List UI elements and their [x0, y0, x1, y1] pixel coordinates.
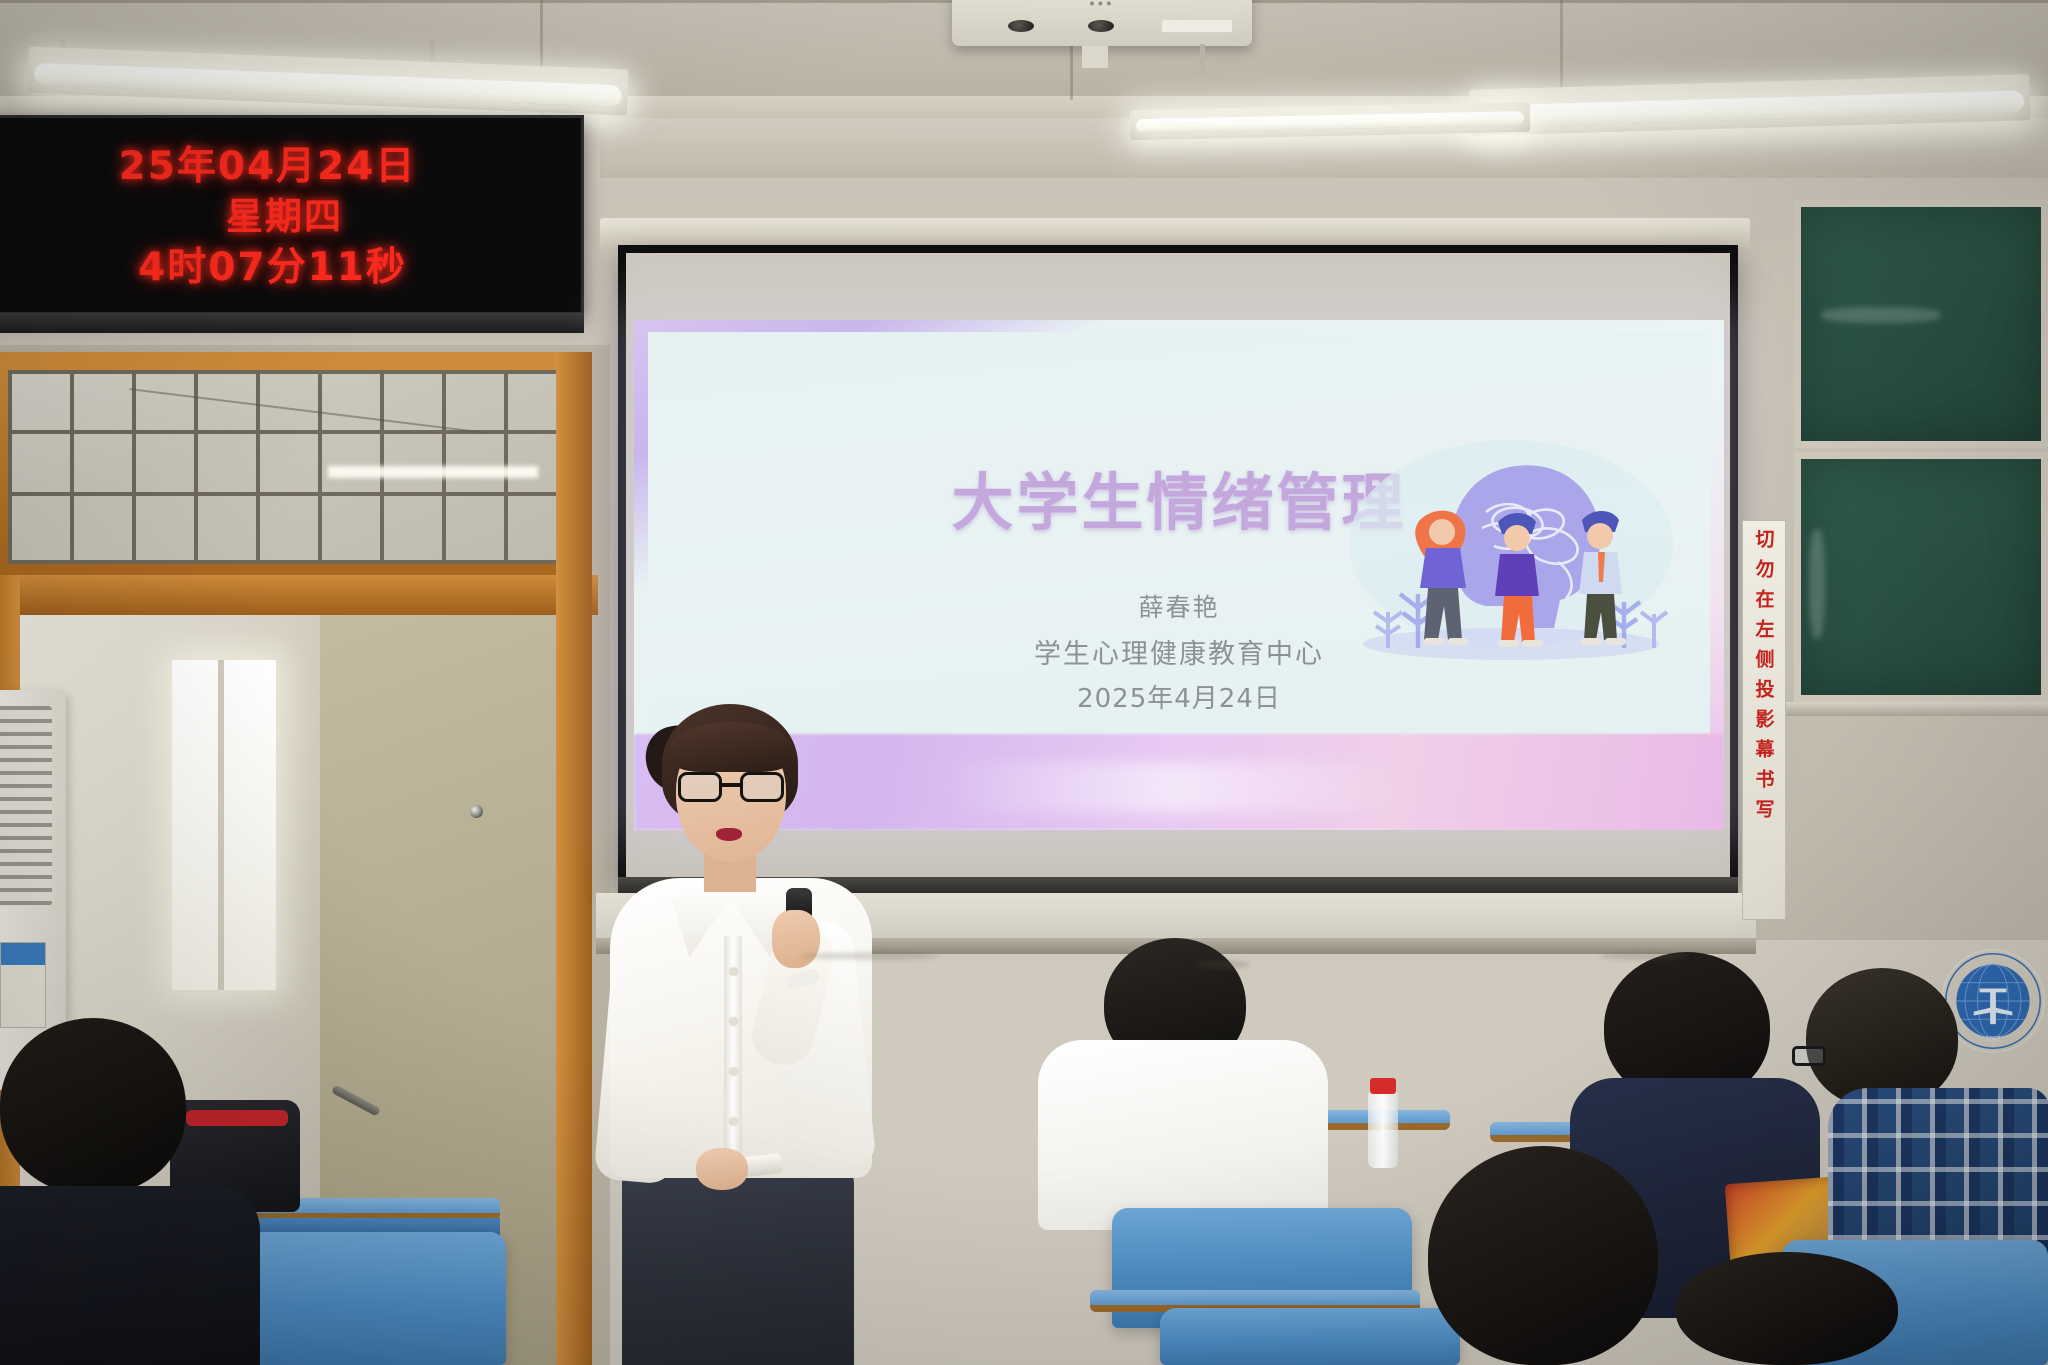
light-tube: [1476, 90, 2024, 127]
door-right-trim: [556, 352, 592, 1365]
presenter-right-hand: [772, 910, 820, 968]
transom-window: [0, 352, 590, 582]
student-torso: [1038, 1040, 1328, 1230]
backpack-red-trim: [186, 1110, 288, 1126]
ceiling-projector: ●●●: [952, 0, 1252, 46]
svg-text:1952: 1952: [1986, 1036, 2001, 1043]
student-torso: [0, 1186, 260, 1365]
classroom-photo-scene: ●●● 25年04月24日 星期四 4时07分11秒: [0, 0, 2048, 1365]
door-header-trim: [0, 575, 598, 615]
warning-sign: 切勿在左侧投影幕书写: [1742, 520, 1786, 920]
water-bottle: [1368, 1090, 1398, 1168]
student-eyeglasses: [1792, 1046, 1826, 1066]
light-hanger: [1200, 44, 1205, 76]
presenter: [600, 700, 880, 1365]
warning-sign-text: 切勿在左侧投影幕书写: [1751, 529, 1778, 829]
light-tube: [1136, 111, 1524, 133]
student-head: [0, 1018, 186, 1194]
led-sign-bezel: [0, 313, 584, 333]
wall-scuff: [1196, 960, 1250, 969]
slide-content-area: 大学生情绪管理 薛春艳 学生心理健康教育中心 2025年4月24日: [648, 332, 1710, 734]
transom-light-reflection: [328, 466, 538, 478]
projector-lens-right: [1088, 20, 1114, 32]
presenter-lips: [716, 828, 742, 841]
eyeglasses-icon: [678, 772, 786, 802]
chalkboard-upper: [1794, 200, 2048, 448]
led-date-line: 25年04月24日: [119, 145, 417, 190]
ceiling-seam-right: [1560, 0, 1563, 100]
ac-energy-label: [0, 942, 46, 1028]
wall-scuff: [800, 952, 940, 960]
student-head: [1676, 1252, 1898, 1365]
ac-grille: [0, 706, 52, 906]
projector-vent: [1162, 20, 1232, 32]
wall-scuff: [1600, 952, 1690, 960]
student-head: [1428, 1146, 1658, 1365]
presenter-left-hand: [696, 1148, 748, 1190]
slide-illustration: [1346, 416, 1676, 676]
seat-front-center[interactable]: [1160, 1308, 1460, 1365]
led-time-line: 4时07分11秒: [138, 246, 407, 291]
presenter-trousers: [622, 1158, 854, 1365]
chalkboard-lower: [1794, 452, 2048, 702]
presenter-hair-front: [670, 722, 792, 772]
led-weekday-line: 星期四: [226, 196, 343, 239]
projector-brand-label: ●●●: [952, 0, 1252, 8]
projector-mount: [1082, 46, 1108, 68]
student-head: [1806, 968, 1958, 1108]
door-knob[interactable]: [470, 805, 483, 818]
corridor-window-mullion: [218, 660, 224, 990]
chalkboard-tray: [1786, 702, 2048, 716]
corridor-window: [172, 660, 276, 990]
water-bottle-cap: [1370, 1078, 1396, 1094]
led-clock-sign: 25年04月24日 星期四 4时07分11秒: [0, 115, 584, 315]
projector-lens-left: [1008, 20, 1034, 32]
